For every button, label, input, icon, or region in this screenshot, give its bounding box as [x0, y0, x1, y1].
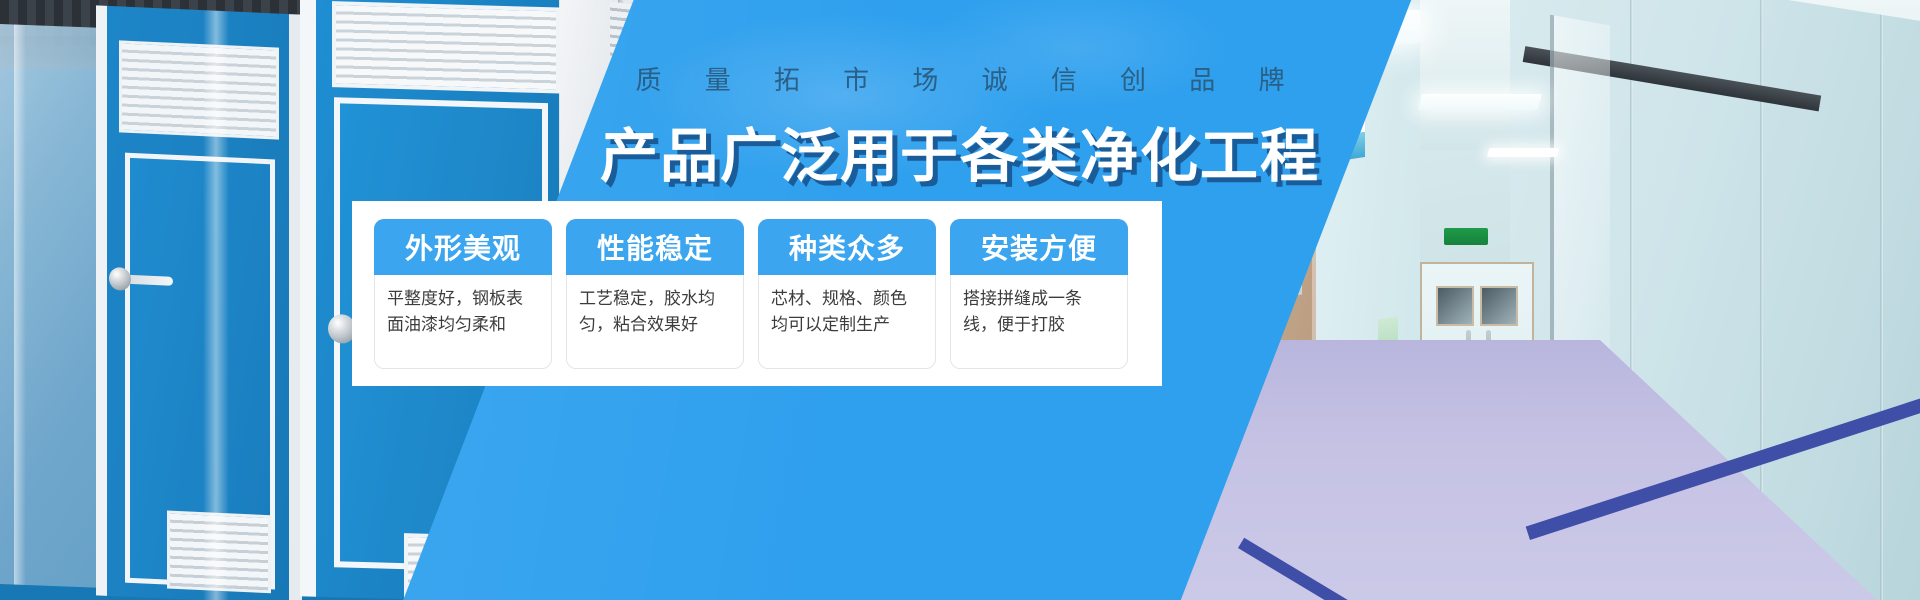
- exit-sign-icon: [1444, 228, 1488, 245]
- louver-vent-icon: [332, 1, 560, 93]
- feature-card[interactable]: 种类众多 芯材、规格、颜色均可以定制生产: [758, 219, 936, 369]
- feature-cards-panel: 外形美观 平整度好，钢板表面油漆均匀柔和 性能稳定 工艺稳定，胶水均匀，粘合效果…: [352, 201, 1162, 386]
- feature-card-title: 安装方便: [950, 219, 1128, 275]
- feature-card-title: 种类众多: [758, 219, 936, 275]
- gloss-highlight: [203, 10, 229, 600]
- portable-cabin-left: [96, 5, 302, 600]
- feature-card[interactable]: 外形美观 平整度好，钢板表面油漆均匀柔和: [374, 219, 552, 369]
- feature-card-title: 外形美观: [374, 219, 552, 275]
- far-door-handles-icon: [1452, 330, 1504, 335]
- ceiling-light-icon: [1418, 94, 1542, 110]
- feature-card-body: 工艺稳定，胶水均匀，粘合效果好: [567, 276, 743, 339]
- feature-card-body: 平整度好，钢板表面油漆均匀柔和: [375, 276, 551, 339]
- ceiling-light-icon: [1487, 148, 1560, 157]
- feature-card[interactable]: 性能稳定 工艺稳定，胶水均匀，粘合效果好: [566, 219, 744, 369]
- panel-seam: [1880, 15, 1883, 600]
- feature-card-body: 搭接拼缝成一条线，便于打胶: [951, 276, 1127, 339]
- louver-vent-icon: [119, 40, 279, 139]
- door-handle-icon: [115, 274, 173, 286]
- promo-banner: 质 量 拓 市 场 诚 信 创 品 牌 产品广泛用于各类净化工程 外形美观 平整…: [0, 0, 1920, 600]
- feature-card-body: 芯材、规格、颜色均可以定制生产: [759, 276, 935, 339]
- feature-card[interactable]: 安装方便 搭接拼缝成一条线，便于打胶: [950, 219, 1128, 369]
- feature-card-title: 性能稳定: [566, 219, 744, 275]
